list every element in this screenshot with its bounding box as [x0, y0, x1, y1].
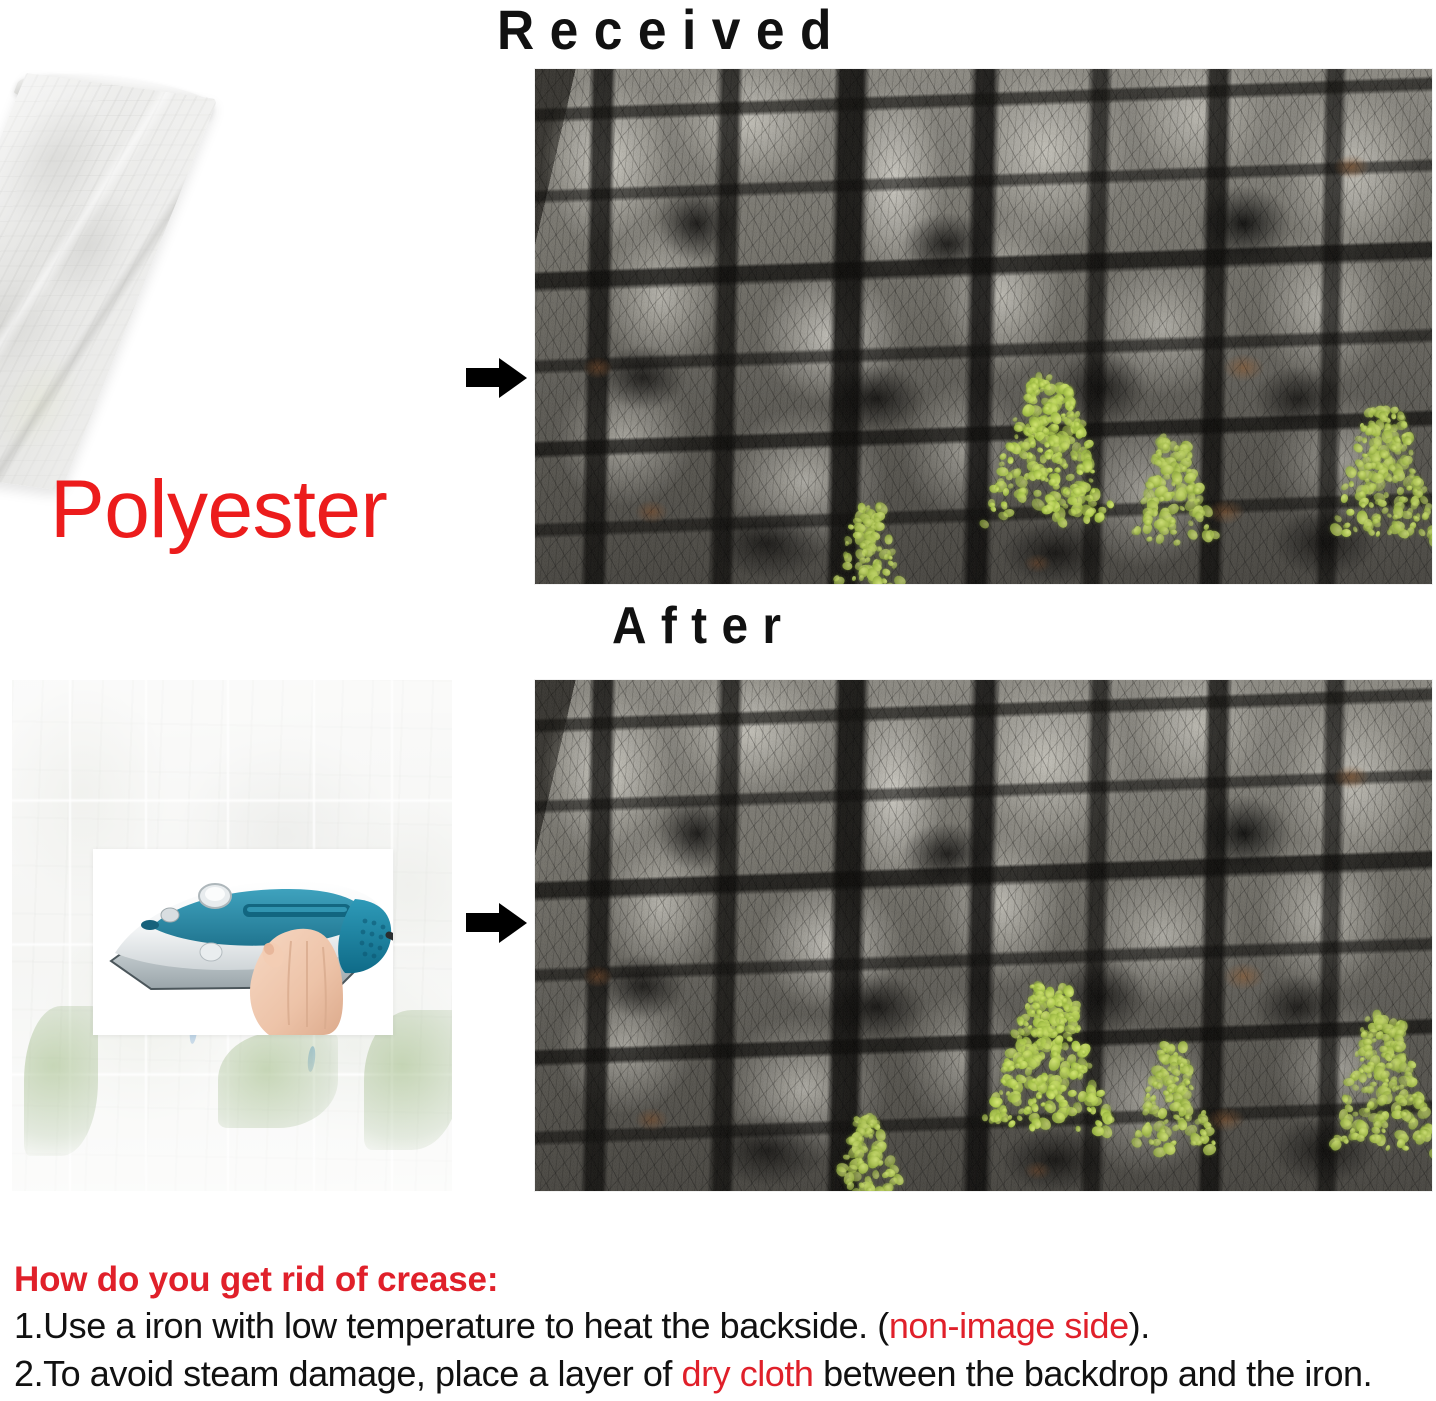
iron-icon	[93, 849, 393, 1035]
crease-line	[12, 798, 452, 803]
iron-instruction-card	[93, 849, 393, 1035]
arrow-right-icon	[466, 903, 528, 943]
instruction-line-1-prefix: 1.Use a iron with low temperature to hea…	[14, 1305, 889, 1346]
rock-grain-noise	[535, 69, 1432, 584]
palm-frond-motif	[24, 1006, 98, 1156]
after-rock-photo	[535, 680, 1432, 1191]
polyester-label: Polyester	[50, 463, 387, 557]
after-section-title: After	[612, 596, 795, 656]
instructions-block: How do you get rid of crease: 1.Use a ir…	[14, 1258, 1434, 1398]
instruction-line-2-prefix: 2.To avoid steam damage, place a layer o…	[14, 1353, 682, 1394]
steam-iron-illustration	[93, 849, 393, 1035]
instructions-heading: How do you get rid of crease:	[14, 1258, 1434, 1302]
arrow-head	[499, 358, 527, 398]
instruction-line-1-suffix: ).	[1129, 1305, 1150, 1346]
received-section-title: Received	[497, 0, 847, 62]
arrow-shaft	[466, 913, 502, 932]
instruction-line-1-highlight: non-image side	[889, 1305, 1129, 1346]
arrow-head	[499, 903, 527, 943]
palm-frond-motif	[218, 1032, 338, 1128]
instruction-line-2-suffix: between the backdrop and the iron.	[814, 1353, 1373, 1394]
instruction-line-2-highlight: dry cloth	[682, 1353, 814, 1394]
arrow-shaft	[466, 368, 502, 387]
rock-grain-noise	[535, 680, 1432, 1191]
instruction-line-2: 2.To avoid steam damage, place a layer o…	[14, 1350, 1434, 1398]
polyester-fabric-sample	[0, 73, 218, 491]
arrow-right-icon	[466, 358, 528, 398]
received-rock-photo	[535, 69, 1432, 584]
instruction-line-1: 1.Use a iron with low temperature to hea…	[14, 1302, 1434, 1350]
